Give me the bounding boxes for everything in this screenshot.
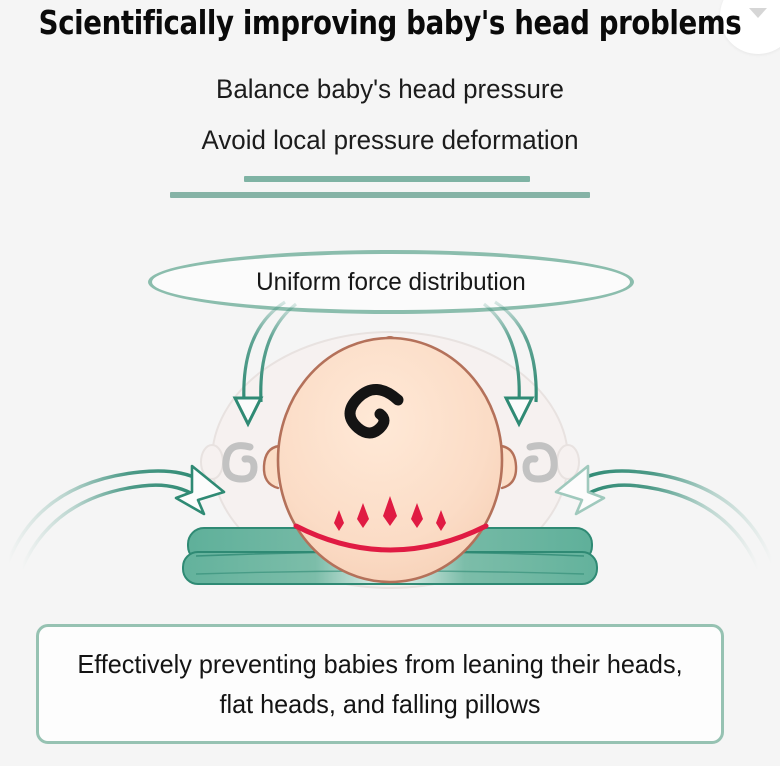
page-title: Scientifically improving baby's head pro… (27, 3, 752, 42)
page-root: Scientifically improving baby's head pro… (0, 0, 780, 766)
uniform-force-badge-label: Uniform force distribution (256, 268, 526, 297)
divider-rule-top (244, 176, 530, 182)
subtitle-line-2: Avoid local pressure deformation (16, 125, 765, 156)
subtitle-line-1: Balance baby's head pressure (16, 74, 765, 105)
divider-rule-bottom (170, 192, 590, 198)
benefit-callout-text: Effectively preventing babies from leani… (49, 644, 711, 725)
baby-head-on-pillow-diagram (0, 300, 780, 610)
benefit-callout: Effectively preventing babies from leani… (36, 624, 724, 744)
